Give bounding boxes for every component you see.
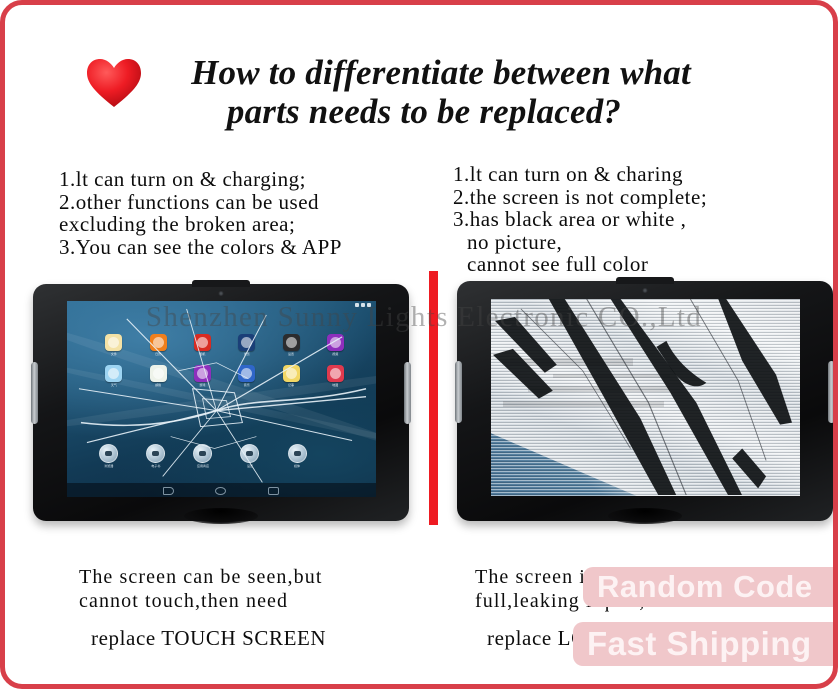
app-icon[interactable]: 日历: [148, 334, 168, 356]
right-bullet-5: cannot see full color: [453, 253, 833, 276]
app-glyph: [194, 365, 211, 382]
caption-left: The screen can be seen,but cannot touch,…: [79, 565, 326, 650]
app-icon[interactable]: 设置: [281, 334, 301, 356]
app-label: 设置: [281, 352, 301, 356]
right-bullet-2: 2.the screen is not complete;: [453, 186, 833, 209]
left-bullet-4: 3.You can see the colors & APP: [59, 236, 429, 259]
app-label: 文件: [104, 352, 124, 356]
app-icon[interactable]: 地图: [325, 365, 345, 387]
app-grid: 文件 日历 相机 浏览 设置 视频 天气 邮箱 游戏 音乐 记事 地图: [92, 334, 358, 387]
dock-glyph: [193, 444, 212, 463]
tablet-broken-lcd: [457, 281, 833, 521]
dock-glyph: [146, 444, 165, 463]
dock-item[interactable]: 应用商店: [192, 444, 214, 468]
left-bullet-3: excluding the broken area;: [59, 213, 429, 236]
front-camera-icon: [643, 288, 648, 293]
caption-left-line-2: cannot touch,then need: [79, 589, 326, 613]
dock-item[interactable]: 媒体: [286, 444, 308, 468]
home-button-icon[interactable]: [215, 487, 226, 495]
dock-label: 媒体: [286, 464, 308, 468]
android-nav-bar: [67, 483, 376, 497]
app-icon[interactable]: 天气: [104, 365, 124, 387]
tablet-top-nub: [192, 280, 250, 287]
caption-left-line-3: replace TOUCH SCREEN: [79, 626, 326, 650]
badge-random-code: Random Code: [583, 567, 838, 607]
home-button-bulge: [608, 508, 682, 524]
app-icon[interactable]: 游戏: [192, 365, 212, 387]
dock-item[interactable]: 浏览器: [98, 444, 120, 468]
app-label: 浏览: [237, 352, 257, 356]
page-title: How to differentiate between what parts …: [5, 53, 838, 131]
dock-glyph: [240, 444, 259, 463]
app-glyph: [327, 334, 344, 351]
left-criteria-list: 1.lt can turn on & charging; 2.other fun…: [59, 168, 429, 258]
poster-frame: How to differentiate between what parts …: [0, 0, 838, 689]
app-glyph: [150, 334, 167, 351]
app-glyph: [105, 334, 122, 351]
app-icon[interactable]: 文件: [104, 334, 124, 356]
home-button-bulge: [184, 508, 258, 524]
tablet-top-nub: [616, 277, 674, 284]
tablet-screen-lcd: [491, 299, 800, 496]
app-icon[interactable]: 浏览: [237, 334, 257, 356]
app-glyph: [238, 334, 255, 351]
heart-icon: [85, 56, 143, 110]
right-bullet-3: 3.has black area or white ,: [453, 208, 833, 231]
right-bullet-1: 1.lt can turn on & charing: [453, 163, 833, 186]
status-icons: [355, 303, 371, 307]
tablet-screen-touch: 文件 日历 相机 浏览 设置 视频 天气 邮箱 游戏 音乐 记事 地图 浏览器 …: [67, 301, 376, 497]
dock: 浏览器 电子书 应用商店 设置 媒体: [98, 444, 308, 468]
side-button-right: [404, 362, 411, 424]
left-bullet-2: 2.other functions can be used: [59, 191, 429, 214]
dock-item[interactable]: 设置: [239, 444, 261, 468]
app-glyph: [238, 365, 255, 382]
dock-label: 电子书: [145, 464, 167, 468]
app-glyph: [150, 365, 167, 382]
status-bar: [67, 301, 376, 310]
app-label: 日历: [148, 352, 168, 356]
left-bullet-1: 1.lt can turn on & charging;: [59, 168, 429, 191]
app-icon[interactable]: 邮箱: [148, 365, 168, 387]
app-glyph: [105, 365, 122, 382]
app-icon[interactable]: 记事: [281, 365, 301, 387]
app-label: 地图: [325, 383, 345, 387]
app-glyph: [327, 365, 344, 382]
dock-label: 应用商店: [192, 464, 214, 468]
tablet-broken-touch: 文件 日历 相机 浏览 设置 视频 天气 邮箱 游戏 音乐 记事 地图 浏览器 …: [33, 284, 409, 521]
app-label: 邮箱: [148, 383, 168, 387]
app-label: 记事: [281, 383, 301, 387]
dock-item[interactable]: 电子书: [145, 444, 167, 468]
app-glyph: [283, 365, 300, 382]
app-label: 相机: [192, 352, 212, 356]
app-icon[interactable]: 视频: [325, 334, 345, 356]
side-button-left: [31, 362, 38, 424]
app-label: 音乐: [237, 383, 257, 387]
app-label: 天气: [104, 383, 124, 387]
app-label: 视频: [325, 352, 345, 356]
dock-label: 设置: [239, 464, 261, 468]
recents-button-icon[interactable]: [268, 487, 279, 495]
side-button-right: [828, 361, 835, 423]
right-bullet-4: no picture,: [453, 231, 833, 254]
front-camera-icon: [219, 291, 224, 296]
right-criteria-list: 1.lt can turn on & charing 2.the screen …: [453, 163, 833, 276]
app-icon[interactable]: 相机: [192, 334, 212, 356]
app-label: 游戏: [192, 383, 212, 387]
side-button-left: [455, 361, 462, 423]
app-icon[interactable]: 音乐: [237, 365, 257, 387]
dock-glyph: [288, 444, 307, 463]
dock-glyph: [99, 444, 118, 463]
app-glyph: [194, 334, 211, 351]
dock-label: 浏览器: [98, 464, 120, 468]
app-glyph: [283, 334, 300, 351]
badge-fast-shipping: Fast Shipping: [573, 622, 838, 666]
lcd-scanlines: [491, 299, 800, 496]
back-button-icon[interactable]: [163, 487, 174, 495]
caption-left-line-1: The screen can be seen,but: [79, 565, 326, 589]
vertical-divider: [429, 271, 438, 525]
